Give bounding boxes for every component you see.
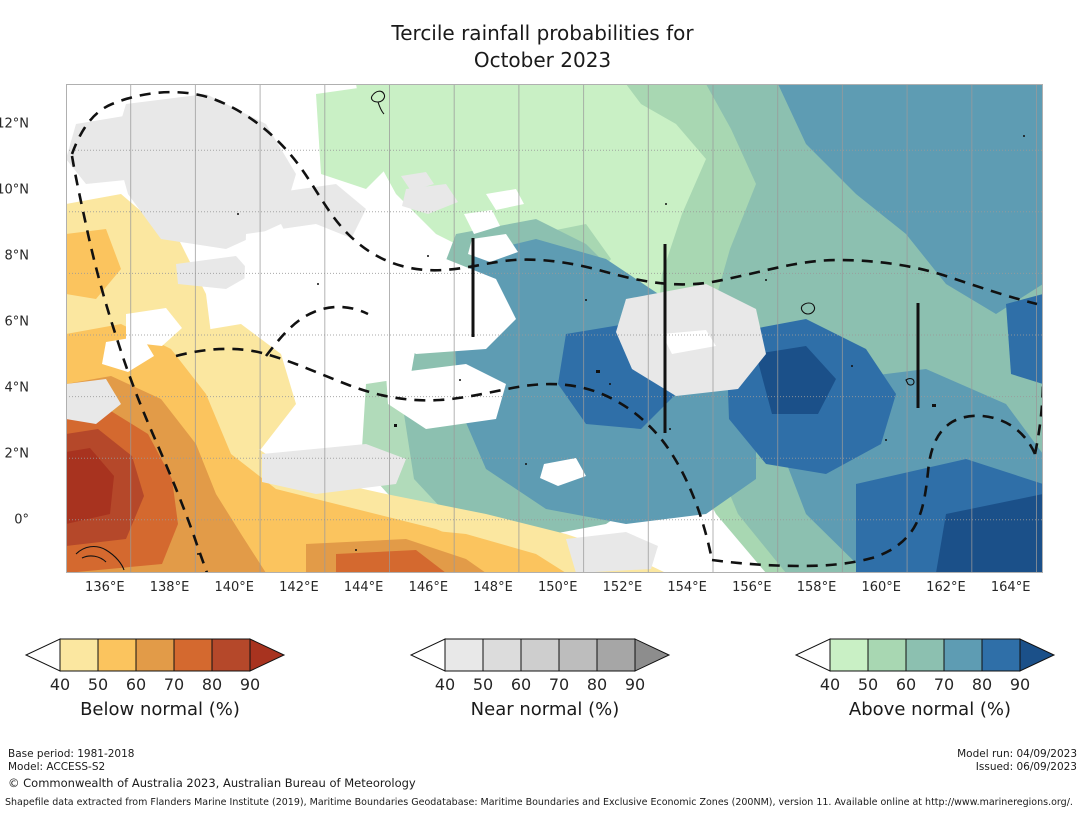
x-axis-tick-label: 146°E <box>409 580 449 595</box>
x-axis-tick-label: 160°E <box>861 580 901 595</box>
title-line-1: Tercile rainfall probabilities for <box>0 20 1085 47</box>
x-axis-tick-label: 158°E <box>797 580 837 595</box>
legend-below-normal[interactable]: 405060708090Below normal (%) <box>10 637 310 727</box>
copyright-text: © Commonwealth of Australia 2023, Austra… <box>8 776 416 790</box>
colorbar-cell <box>174 639 212 671</box>
x-axis-tick-label: 150°E <box>538 580 578 595</box>
colorbar-cell <box>906 639 944 671</box>
colorbar-cell <box>445 639 483 671</box>
colorbar-title: Below normal (%) <box>10 699 310 720</box>
colorbar-tick-label: 60 <box>126 675 146 694</box>
y-axis-tick-label: 8°N <box>5 248 30 263</box>
tercile-probability-map <box>66 84 1043 573</box>
colorbar-cell <box>868 639 906 671</box>
issued-text: Issued: 06/09/2023 <box>957 761 1077 774</box>
colorbar-cell <box>136 639 174 671</box>
colorbar-tick-label: 50 <box>858 675 878 694</box>
title-line-2: October 2023 <box>0 47 1085 74</box>
colorbar-cell <box>60 639 98 671</box>
y-axis-tick-label: 0° <box>14 513 29 528</box>
colorbar-title: Above normal (%) <box>780 699 1080 720</box>
colorbar-high-arrow <box>1020 639 1054 671</box>
y-axis-tick-label: 12°N <box>0 116 29 131</box>
colorbar-tick-label: 80 <box>202 675 222 694</box>
colorbar-tick-label: 50 <box>473 675 493 694</box>
colorbar-tick-label: 80 <box>587 675 607 694</box>
colorbar-cell <box>483 639 521 671</box>
colorbar-tick-label: 90 <box>1010 675 1030 694</box>
colorbar-high-arrow <box>635 639 669 671</box>
colorbar-tick-label: 70 <box>164 675 184 694</box>
y-axis-tick-label: 2°N <box>5 447 30 462</box>
colorbar-tick-row: 405060708090 <box>395 675 695 697</box>
legend-above-normal[interactable]: 405060708090Above normal (%) <box>780 637 1080 727</box>
base-period-text: Base period: 1981-2018 <box>8 748 134 761</box>
x-axis-tick-label: 144°E <box>344 580 384 595</box>
x-axis-tick-label: 152°E <box>603 580 643 595</box>
colorbar-tick-label: 90 <box>240 675 260 694</box>
x-axis-tick-label: 140°E <box>214 580 254 595</box>
colorbar-swatches <box>395 637 695 675</box>
page-title: Tercile rainfall probabilities for Octob… <box>0 20 1085 74</box>
x-axis-tick-label: 154°E <box>667 580 707 595</box>
colorbar-low-arrow <box>411 639 445 671</box>
map-panel[interactable] <box>66 84 1043 573</box>
colorbar-tick-label: 50 <box>88 675 108 694</box>
colorbar-swatches <box>780 637 1080 675</box>
x-axis-tick-label: 164°E <box>991 580 1031 595</box>
y-axis-tick-label: 6°N <box>5 314 30 329</box>
colorbar-cell <box>597 639 635 671</box>
colorbar-tick-row: 405060708090 <box>780 675 1080 697</box>
colorbar-tick-label: 90 <box>625 675 645 694</box>
colorbar-cell <box>944 639 982 671</box>
colorbar-swatches <box>10 637 310 675</box>
colorbar-tick-label: 40 <box>435 675 455 694</box>
colorbar-tick-label: 80 <box>972 675 992 694</box>
colorbar-tick-label: 70 <box>934 675 954 694</box>
colorbar-cell <box>830 639 868 671</box>
footer-left: Base period: 1981-2018 Model: ACCESS-S2 <box>8 748 134 774</box>
y-axis-tick-label: 10°N <box>0 182 29 197</box>
colorbar-low-arrow <box>796 639 830 671</box>
colorbar-tick-label: 40 <box>50 675 70 694</box>
colorbar-cell <box>982 639 1020 671</box>
colorbar-tick-label: 70 <box>549 675 569 694</box>
colorbar-tick-label: 60 <box>896 675 916 694</box>
map-canvas <box>66 84 1043 573</box>
colorbar-cell <box>98 639 136 671</box>
footer-right: Model run: 04/09/2023 Issued: 06/09/2023 <box>957 748 1077 774</box>
model-text: Model: ACCESS-S2 <box>8 761 134 774</box>
colorbar-title: Near normal (%) <box>395 699 695 720</box>
legend-near-normal[interactable]: 405060708090Near normal (%) <box>395 637 695 727</box>
y-axis-tick-label: 4°N <box>5 380 30 395</box>
colorbar-tick-label: 60 <box>511 675 531 694</box>
colorbar-tick-label: 40 <box>820 675 840 694</box>
colorbar-cell <box>212 639 250 671</box>
model-run-text: Model run: 04/09/2023 <box>957 748 1077 761</box>
colorbar-cell <box>559 639 597 671</box>
x-axis-tick-label: 136°E <box>85 580 125 595</box>
colorbar-high-arrow <box>250 639 284 671</box>
x-axis-tick-label: 142°E <box>279 580 319 595</box>
colorbar-low-arrow <box>26 639 60 671</box>
x-axis-tick-label: 138°E <box>150 580 190 595</box>
colorbar-cell <box>521 639 559 671</box>
shapefile-attribution: Shapefile data extracted from Flanders M… <box>5 797 1073 808</box>
x-axis-tick-label: 162°E <box>926 580 966 595</box>
x-axis-tick-label: 148°E <box>473 580 513 595</box>
colorbar-tick-row: 405060708090 <box>10 675 310 697</box>
x-axis-tick-label: 156°E <box>732 580 772 595</box>
